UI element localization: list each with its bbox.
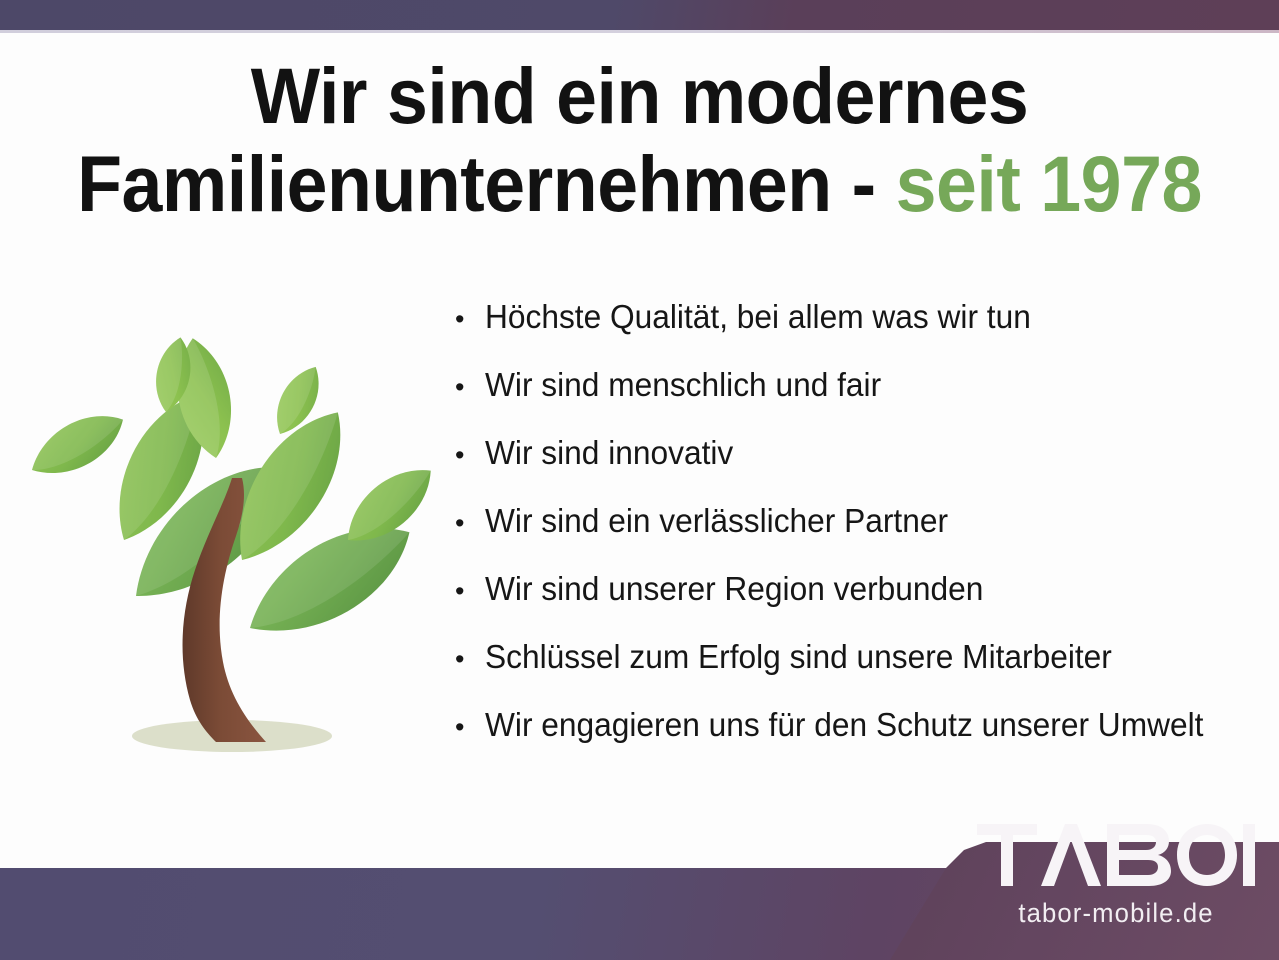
brand-panel-content: tabor-mobile.de (890, 802, 1279, 960)
tabor-wordmark-svg (975, 824, 1255, 886)
list-item: • Wir sind innovativ (455, 434, 1265, 502)
slide-canvas: Wir sind ein modernes Familienunternehme… (0, 0, 1279, 960)
list-item-label: Schlüssel zum Erfolg sind unsere Mitarbe… (485, 638, 1112, 676)
brand-url: tabor-mobile.de (983, 898, 1249, 929)
page-title-line-2-prefix: Familienunternehmen - (77, 139, 895, 228)
bullet-marker-icon: • (455, 510, 485, 537)
leaf-far-left (21, 401, 133, 489)
bullet-marker-icon: • (455, 306, 485, 333)
list-item-label: Wir engagieren uns für den Schutz unsere… (485, 706, 1203, 744)
list-item: • Wir engagieren uns für den Schutz unse… (455, 706, 1265, 774)
page-title-accent: seit 1978 (896, 139, 1202, 228)
list-item-label: Wir sind ein verlässlicher Partner (485, 502, 948, 540)
list-item-label: Höchste Qualität, bei allem was wir tun (485, 298, 1031, 336)
page-title-line-1: Wir sind ein modernes (45, 52, 1234, 140)
page-title-line-2: Familienunternehmen - seit 1978 (45, 140, 1234, 228)
list-item-label: Wir sind unserer Region verbunden (485, 570, 983, 608)
tree-logo-svg (18, 328, 448, 768)
list-item-label: Wir sind innovativ (485, 434, 733, 472)
page-title: Wir sind ein modernes Familienunternehme… (45, 52, 1234, 228)
list-item: • Wir sind ein verlässlicher Partner (455, 502, 1265, 570)
list-item: • Höchste Qualität, bei allem was wir tu… (455, 298, 1265, 366)
bullet-marker-icon: • (455, 646, 485, 673)
top-accent-bar (0, 0, 1279, 30)
bullet-marker-icon: • (455, 714, 485, 741)
list-item: • Wir sind unserer Region verbunden (455, 570, 1265, 638)
bullet-marker-icon: • (455, 578, 485, 605)
bullet-marker-icon: • (455, 442, 485, 469)
tree-logo (18, 328, 448, 768)
list-item: • Wir sind menschlich und fair (455, 366, 1265, 434)
list-item-label: Wir sind menschlich und fair (485, 366, 881, 404)
top-accent-bar-hairline (0, 30, 1279, 33)
tabor-wordmark (975, 824, 1255, 886)
list-item: • Schlüssel zum Erfolg sind unsere Mitar… (455, 638, 1265, 706)
bullet-marker-icon: • (455, 374, 485, 401)
key-points-list: • Höchste Qualität, bei allem was wir tu… (455, 298, 1265, 774)
